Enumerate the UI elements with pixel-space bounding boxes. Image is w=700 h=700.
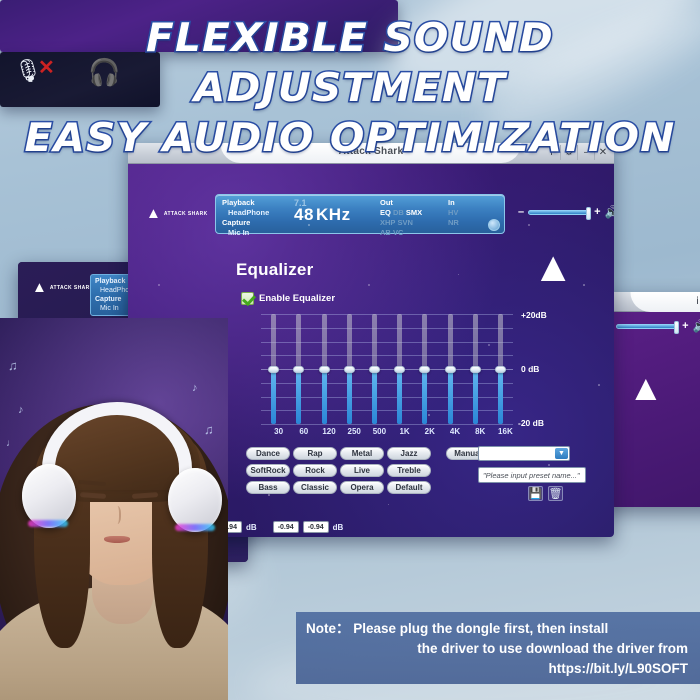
brand-name: ATTACK SHARK (164, 211, 208, 217)
background-sparkle (488, 344, 490, 346)
eq-slider-knob[interactable] (445, 366, 456, 373)
preset-button-opera[interactable]: Opera (340, 481, 384, 494)
background-sparkle (308, 224, 310, 226)
device-icons-window[interactable]: 🎙 ✕ 🎧 (0, 52, 160, 107)
capture-value: Mic In (222, 228, 269, 238)
playback-value: HeadPhone (222, 208, 269, 218)
speaker-icon[interactable]: 🔊 (605, 206, 614, 218)
preset-button-rock[interactable]: Rock (293, 464, 337, 477)
eq-slider[interactable] (471, 314, 480, 424)
preset-button-dance[interactable]: Dance (246, 447, 290, 460)
right-background-window[interactable]: i ⚙ – ✕ – + 🔊 ▲ (600, 292, 700, 507)
brand-logo: ▲ ATTACK SHARK (32, 280, 94, 295)
audio-status-panel: Playback HeadPhone Capture Mic In 7.1 48… (215, 194, 505, 234)
nose (112, 506, 121, 524)
delete-preset-button[interactable]: 🗑 (548, 486, 563, 501)
eq-slider-fill (422, 369, 427, 424)
shark-logo-icon: ▲ (532, 246, 574, 288)
shark-logo-icon: ▲ (628, 370, 664, 406)
rgb-light-left (28, 520, 68, 527)
preset-button-metal[interactable]: Metal (340, 447, 384, 460)
device-icons-body: 🎙 ✕ 🎧 (0, 52, 160, 107)
volume-increase-button[interactable]: + (682, 321, 688, 332)
minimize-button[interactable]: – (577, 145, 594, 160)
eq-slider-knob[interactable] (319, 366, 330, 373)
eq-slider-fill (448, 369, 453, 424)
sky-wisp (370, 0, 700, 128)
bottom-background-window[interactable] (0, 0, 398, 52)
capture-label: Capture (222, 218, 269, 228)
preset-action-buttons[interactable]: 💾 🗑 (528, 486, 563, 501)
headset-icon[interactable]: 🎧 (88, 59, 120, 85)
eq-slider-knob[interactable] (394, 366, 405, 373)
shark-logo-icon: ▲ (32, 280, 47, 295)
volume-slider-knob[interactable] (674, 321, 679, 334)
page-title: Equalizer (236, 260, 313, 280)
eq-slider-fill (347, 369, 352, 424)
preset-button-classic[interactable]: Classic (293, 481, 337, 494)
out-tag-svn: SVN (398, 218, 413, 227)
eq-slider-fill (271, 369, 276, 424)
background-sparkle (598, 384, 600, 386)
enable-equalizer-row[interactable]: Enable Equalizer (241, 292, 335, 305)
music-note-icon: ♩ (6, 438, 16, 449)
scale-label-bottom: -20 dB (518, 418, 544, 428)
note-line-1: Note： Please plug the dongle first, then… (306, 619, 688, 639)
chevron-down-icon[interactable]: ▼ (555, 448, 568, 459)
eq-slider-fill (372, 369, 377, 424)
in-tag-hv: HV (448, 208, 459, 218)
right-volume-control[interactable]: – + 🔊 (606, 320, 700, 332)
db-unit-label: dB (333, 523, 344, 532)
out-tag-ab: AB (380, 228, 391, 237)
sky-wisp (470, 0, 700, 152)
note-banner: Note： Please plug the dongle first, then… (296, 612, 700, 684)
background-sparkle (548, 464, 550, 466)
volume-slider[interactable] (616, 324, 678, 329)
eq-slider-knob[interactable] (344, 366, 355, 373)
main-window-titlebar[interactable]: Attack Shark i ⚙ – ✕ (128, 143, 614, 164)
eq-slider-knob[interactable] (293, 366, 304, 373)
background-sparkle (458, 274, 459, 275)
main-window-controls: i ⚙ – ✕ (543, 145, 611, 160)
volume-slider-knob[interactable] (586, 207, 591, 220)
preset-button-default[interactable]: Default (387, 481, 431, 494)
sample-rate-unit: KHz (316, 205, 351, 224)
volume-decrease-button[interactable]: – (518, 207, 524, 218)
out-tag-vc: VC (393, 228, 403, 237)
note-line-2: the driver to use download the driver fr… (306, 639, 688, 659)
status-badge-icon (488, 219, 500, 231)
eq-frequency-label: 60 (291, 427, 317, 436)
preset-button-jazz[interactable]: Jazz (387, 447, 431, 460)
eq-frequency-label: 4K (442, 427, 468, 436)
playback-label: Playback (222, 198, 269, 208)
eq-slider-fill (498, 369, 503, 424)
background-sparkle (388, 504, 389, 505)
eq-slider-fill (322, 369, 327, 424)
eq-slider[interactable] (294, 314, 303, 424)
preset-name-input[interactable]: ▼ (478, 446, 570, 461)
preset-button-rap[interactable]: Rap (293, 447, 337, 460)
background-sparkle (428, 414, 430, 416)
music-note-icon: ♫ (8, 358, 18, 373)
music-note-icon: ♫ (204, 422, 214, 437)
out-tag-db: DB (393, 208, 404, 217)
out-label: Out (380, 198, 422, 208)
volume-increase-button[interactable]: + (594, 207, 600, 218)
info-button[interactable]: i (689, 294, 700, 309)
background-sparkle (583, 284, 585, 286)
db-value-box[interactable]: -0.94 (303, 521, 329, 533)
master-volume-control[interactable]: – + 🔊 (518, 206, 614, 218)
db-value-box[interactable]: -0.94 (273, 521, 299, 533)
eq-slider-knob[interactable] (470, 366, 481, 373)
enable-equalizer-label: Enable Equalizer (259, 293, 335, 304)
background-sparkle (528, 224, 530, 226)
eq-slider[interactable] (269, 314, 278, 424)
eq-slider-knob[interactable] (495, 366, 506, 373)
eq-frequency-label: 1K (392, 427, 418, 436)
sample-rate-value: 48 (294, 205, 314, 224)
brand-logo: ▲ ATTACK SHARK (146, 206, 208, 221)
eq-frequency-label: 30 (266, 427, 292, 436)
eq-frequency-label: 120 (316, 427, 342, 436)
eq-frequency-label: 8K (467, 427, 493, 436)
right-window-controls: i ⚙ – ✕ (689, 294, 700, 309)
eq-slider-knob[interactable] (369, 366, 380, 373)
eq-frequency-label: 250 (341, 427, 367, 436)
right-window-titlebar: i ⚙ – ✕ (600, 292, 700, 312)
eq-frequency-label: 500 (366, 427, 392, 436)
settings-button[interactable]: ⚙ (560, 145, 577, 160)
mouth (104, 536, 130, 543)
eq-slider-fill (473, 369, 478, 424)
eq-gridline (261, 424, 513, 425)
eq-slider[interactable] (395, 314, 404, 424)
eq-slider[interactable] (420, 314, 429, 424)
out-tag-eq: EQ (380, 208, 391, 217)
preset-button-live[interactable]: Live (340, 464, 384, 477)
equalizer-sliders-panel[interactable]: 30601202505001K2K4K8K16K (261, 314, 513, 424)
eq-slider-knob[interactable] (268, 366, 279, 373)
save-preset-button[interactable]: 💾 (528, 486, 543, 501)
in-tag-nr: NR (448, 218, 459, 228)
window-title: Attack Shark (128, 146, 614, 157)
note-line-3: https://bit.ly/L90SOFT (306, 659, 688, 679)
headset-earcup-right (168, 468, 222, 532)
info-button[interactable]: i (543, 145, 560, 160)
enable-equalizer-checkbox[interactable] (241, 292, 254, 305)
model-photo: ♫ ♪ ♩ ♪ ♫ (0, 318, 228, 700)
eq-slider[interactable] (320, 314, 329, 424)
music-note-icon: ♪ (192, 382, 198, 394)
close-button[interactable]: ✕ (594, 145, 611, 160)
rgb-light-right (175, 524, 215, 531)
eq-slider[interactable] (345, 314, 354, 424)
eq-slider[interactable] (496, 314, 505, 424)
brand-name: ATTACK SHARK (50, 285, 94, 291)
in-label: In (448, 198, 459, 208)
preset-button-softrock[interactable]: SoftRock (246, 464, 290, 477)
headset-earcup-left (22, 464, 76, 528)
out-tag-xhp: XHP (380, 218, 395, 227)
out-tag-smx: SMX (406, 208, 422, 217)
preset-button-treble[interactable]: Treble (387, 464, 431, 477)
microphone-muted-icon: ✕ (38, 58, 55, 78)
right-window-body: – + 🔊 ▲ (600, 312, 700, 507)
eq-slider[interactable] (370, 314, 379, 424)
eq-frequency-label: 16K (492, 427, 518, 436)
music-note-icon: ♪ (18, 404, 24, 416)
eq-slider-fill (296, 369, 301, 424)
background-sparkle (368, 284, 370, 286)
preset-button-bass[interactable]: Bass (246, 481, 290, 494)
volume-slider[interactable] (528, 210, 590, 215)
shark-logo-icon: ▲ (146, 206, 161, 221)
scale-label-mid: 0 dB (521, 364, 539, 374)
db-unit-label: dB (246, 523, 257, 532)
eq-slider-knob[interactable] (419, 366, 430, 373)
scale-label-top: +20dB (521, 310, 547, 320)
db-readout-row: -0.94 dB -0.94 -0.94 dB (216, 521, 343, 533)
eq-slider[interactable] (446, 314, 455, 424)
background-sparkle (158, 284, 160, 286)
eq-slider-fill (397, 369, 402, 424)
speaker-icon[interactable]: 🔊 (693, 320, 700, 332)
preset-button-grid[interactable]: DanceRapMetalJazzSoftRockRockLiveTrebleB… (246, 447, 436, 494)
background-sparkle (268, 494, 270, 496)
eq-frequency-label: 2K (417, 427, 443, 436)
preset-name-hint: "Please input preset name..." (478, 467, 586, 483)
